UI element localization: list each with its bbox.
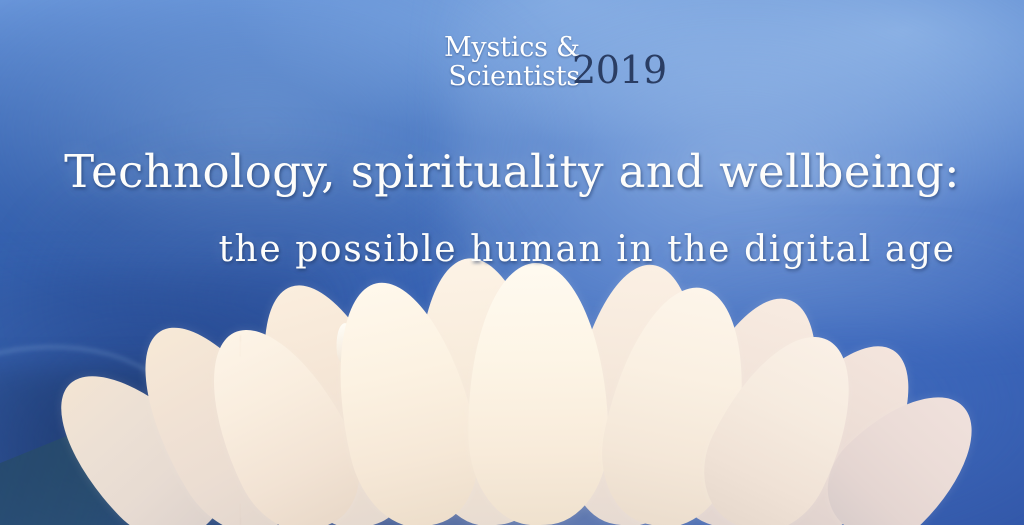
lotus-petal-veins bbox=[240, 335, 800, 525]
poster-subheadline: the possible human in the digital age bbox=[0, 231, 1024, 269]
conference-poster: Mystics & Scientists 2019 Technology, sp… bbox=[0, 0, 1024, 525]
lotus-flower bbox=[0, 225, 1024, 525]
poster-headline: Technology, spirituality and wellbeing: bbox=[0, 148, 1024, 195]
